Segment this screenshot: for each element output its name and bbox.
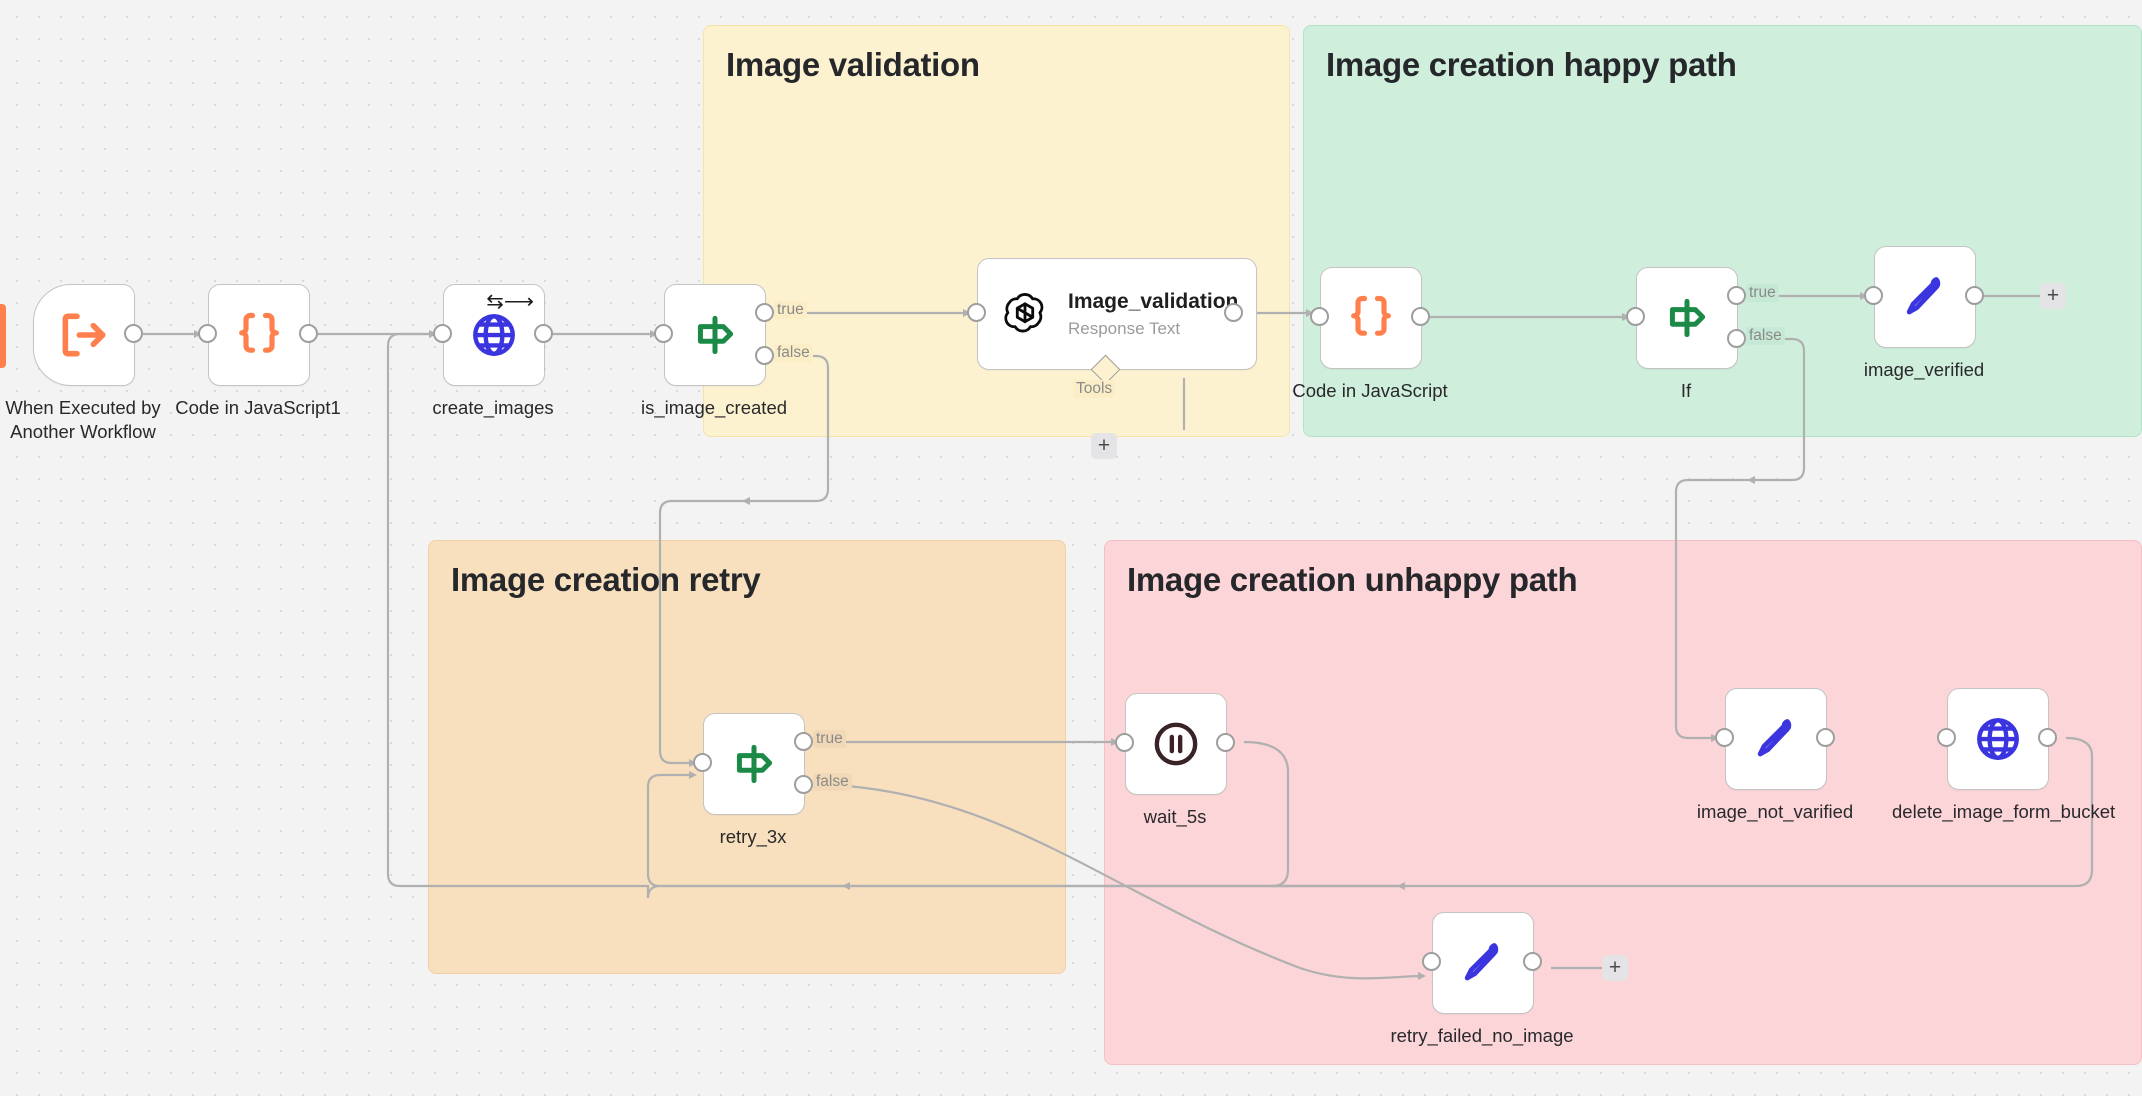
signpost-icon: [690, 310, 740, 360]
workflow-canvas[interactable]: Image validation Image creation happy pa…: [0, 0, 2142, 1096]
node-image-validation[interactable]: Image_validation Response Text Tools +: [977, 258, 1233, 368]
sticky-note-title: Image creation unhappy path: [1127, 561, 1577, 599]
output-label-false: false: [813, 773, 852, 791]
node-body[interactable]: [33, 284, 135, 386]
output-label-true: true: [813, 730, 846, 748]
output-endpoint[interactable]: [1216, 733, 1235, 752]
globe-icon: [469, 310, 519, 360]
output-endpoint-false[interactable]: [794, 775, 813, 794]
node-body[interactable]: [1947, 688, 2049, 790]
sticky-note-title: Image creation happy path: [1326, 46, 1737, 84]
node-body[interactable]: [1432, 912, 1534, 1014]
node-label: Code in JavaScript: [1292, 379, 1447, 403]
input-endpoint[interactable]: [1310, 307, 1329, 326]
node-delete-image-form-bucket[interactable]: delete_image_form_bucket: [1947, 688, 2047, 788]
node-body[interactable]: ⇆⟶: [443, 284, 545, 386]
input-endpoint[interactable]: [433, 324, 452, 343]
output-endpoint[interactable]: [1965, 286, 1984, 305]
node-is-image-created[interactable]: true false is_image_created: [664, 284, 764, 384]
node-label: retry_3x: [720, 825, 787, 849]
add-tools-button[interactable]: +: [1091, 433, 1117, 459]
node-label: wait_5s: [1144, 805, 1207, 829]
node-label: retry_failed_no_image: [1390, 1024, 1573, 1048]
output-endpoint[interactable]: [1411, 307, 1430, 326]
execute-workflow-trigger-icon: [56, 307, 112, 363]
add-node-button-after-retry-failed-no-image[interactable]: +: [1602, 955, 1628, 981]
node-subtitle: Response Text: [1068, 319, 1238, 339]
output-endpoint[interactable]: [1523, 952, 1542, 971]
node-label: image_not_varified: [1697, 800, 1853, 824]
output-endpoint[interactable]: [534, 324, 553, 343]
node-if[interactable]: true false If: [1636, 267, 1736, 367]
pen-icon: [1458, 938, 1508, 988]
output-endpoint-true[interactable]: [1727, 286, 1746, 305]
openai-icon: [1000, 289, 1050, 339]
node-body[interactable]: [208, 284, 310, 386]
node-create-images[interactable]: ⇆⟶ create_images: [443, 284, 543, 384]
sticky-note-happy-path[interactable]: Image creation happy path: [1303, 25, 2142, 437]
output-label-true: true: [1746, 284, 1779, 302]
output-endpoint-false[interactable]: [755, 346, 774, 365]
node-image-not-varified[interactable]: image_not_varified: [1725, 688, 1825, 788]
node-label: Code in JavaScript1: [175, 396, 341, 420]
node-retry-3x[interactable]: true false retry_3x: [703, 713, 803, 813]
input-endpoint[interactable]: [1864, 286, 1883, 305]
input-endpoint[interactable]: [1626, 307, 1645, 326]
input-endpoint[interactable]: [1715, 728, 1734, 747]
output-endpoint[interactable]: [299, 324, 318, 343]
input-endpoint[interactable]: [693, 753, 712, 772]
node-label: delete_image_form_bucket: [1892, 800, 2102, 824]
node-image-verified[interactable]: image_verified: [1874, 246, 1974, 346]
input-endpoint[interactable]: [198, 324, 217, 343]
sticky-note-image-validation[interactable]: Image validation: [703, 25, 1290, 437]
input-endpoint[interactable]: [654, 324, 673, 343]
code-braces-icon: [1345, 292, 1397, 344]
output-endpoint[interactable]: [124, 324, 143, 343]
node-body[interactable]: [1874, 246, 1976, 348]
add-node-button-after-image-verified[interactable]: +: [2040, 283, 2066, 309]
node-title: Image_validation: [1068, 289, 1238, 314]
pen-icon: [1751, 714, 1801, 764]
output-endpoint-false[interactable]: [1727, 329, 1746, 348]
node-code-in-javascript1[interactable]: Code in JavaScript1: [208, 284, 308, 384]
node-when-executed-by-another-workflow[interactable]: When Executed by Another Workflow: [33, 284, 133, 384]
input-endpoint[interactable]: [1422, 952, 1441, 971]
output-endpoint[interactable]: [1224, 303, 1243, 322]
node-body[interactable]: [1320, 267, 1422, 369]
node-wait-5s[interactable]: wait_5s: [1125, 693, 1225, 793]
node-body[interactable]: Image_validation Response Text: [977, 258, 1257, 370]
input-endpoint[interactable]: [1937, 728, 1956, 747]
retry-loop-icon: ⇆⟶: [486, 291, 534, 312]
sticky-note-title: Image creation retry: [451, 561, 760, 599]
output-label-false: false: [1746, 327, 1785, 345]
output-endpoint-true[interactable]: [794, 732, 813, 751]
node-label: create_images: [432, 396, 553, 420]
node-label: is_image_created: [641, 396, 787, 420]
node-body[interactable]: [1636, 267, 1738, 369]
node-label: When Executed by Another Workflow: [0, 396, 169, 443]
node-body[interactable]: [1125, 693, 1227, 795]
tools-label: Tools: [1073, 380, 1115, 398]
output-endpoint[interactable]: [1816, 728, 1835, 747]
globe-icon: [1973, 714, 2023, 764]
node-code-in-javascript[interactable]: Code in JavaScript: [1320, 267, 1420, 367]
sticky-note-title: Image validation: [726, 46, 980, 84]
pause-circle-icon: [1151, 719, 1201, 769]
output-endpoint[interactable]: [2038, 728, 2057, 747]
input-endpoint[interactable]: [1115, 733, 1134, 752]
node-body[interactable]: [664, 284, 766, 386]
node-retry-failed-no-image[interactable]: retry_failed_no_image: [1432, 912, 1532, 1012]
code-braces-icon: [233, 309, 285, 361]
pen-icon: [1900, 272, 1950, 322]
node-body[interactable]: [703, 713, 805, 815]
signpost-icon: [1662, 293, 1712, 343]
signpost-icon: [729, 739, 779, 789]
offscreen-trigger-sliver: [0, 304, 6, 368]
output-label-false: false: [774, 344, 813, 362]
output-endpoint-true[interactable]: [755, 303, 774, 322]
node-label: image_verified: [1864, 358, 1984, 382]
node-body[interactable]: [1725, 688, 1827, 790]
output-label-true: true: [774, 301, 807, 319]
input-endpoint[interactable]: [967, 303, 986, 322]
node-label: If: [1681, 379, 1691, 403]
